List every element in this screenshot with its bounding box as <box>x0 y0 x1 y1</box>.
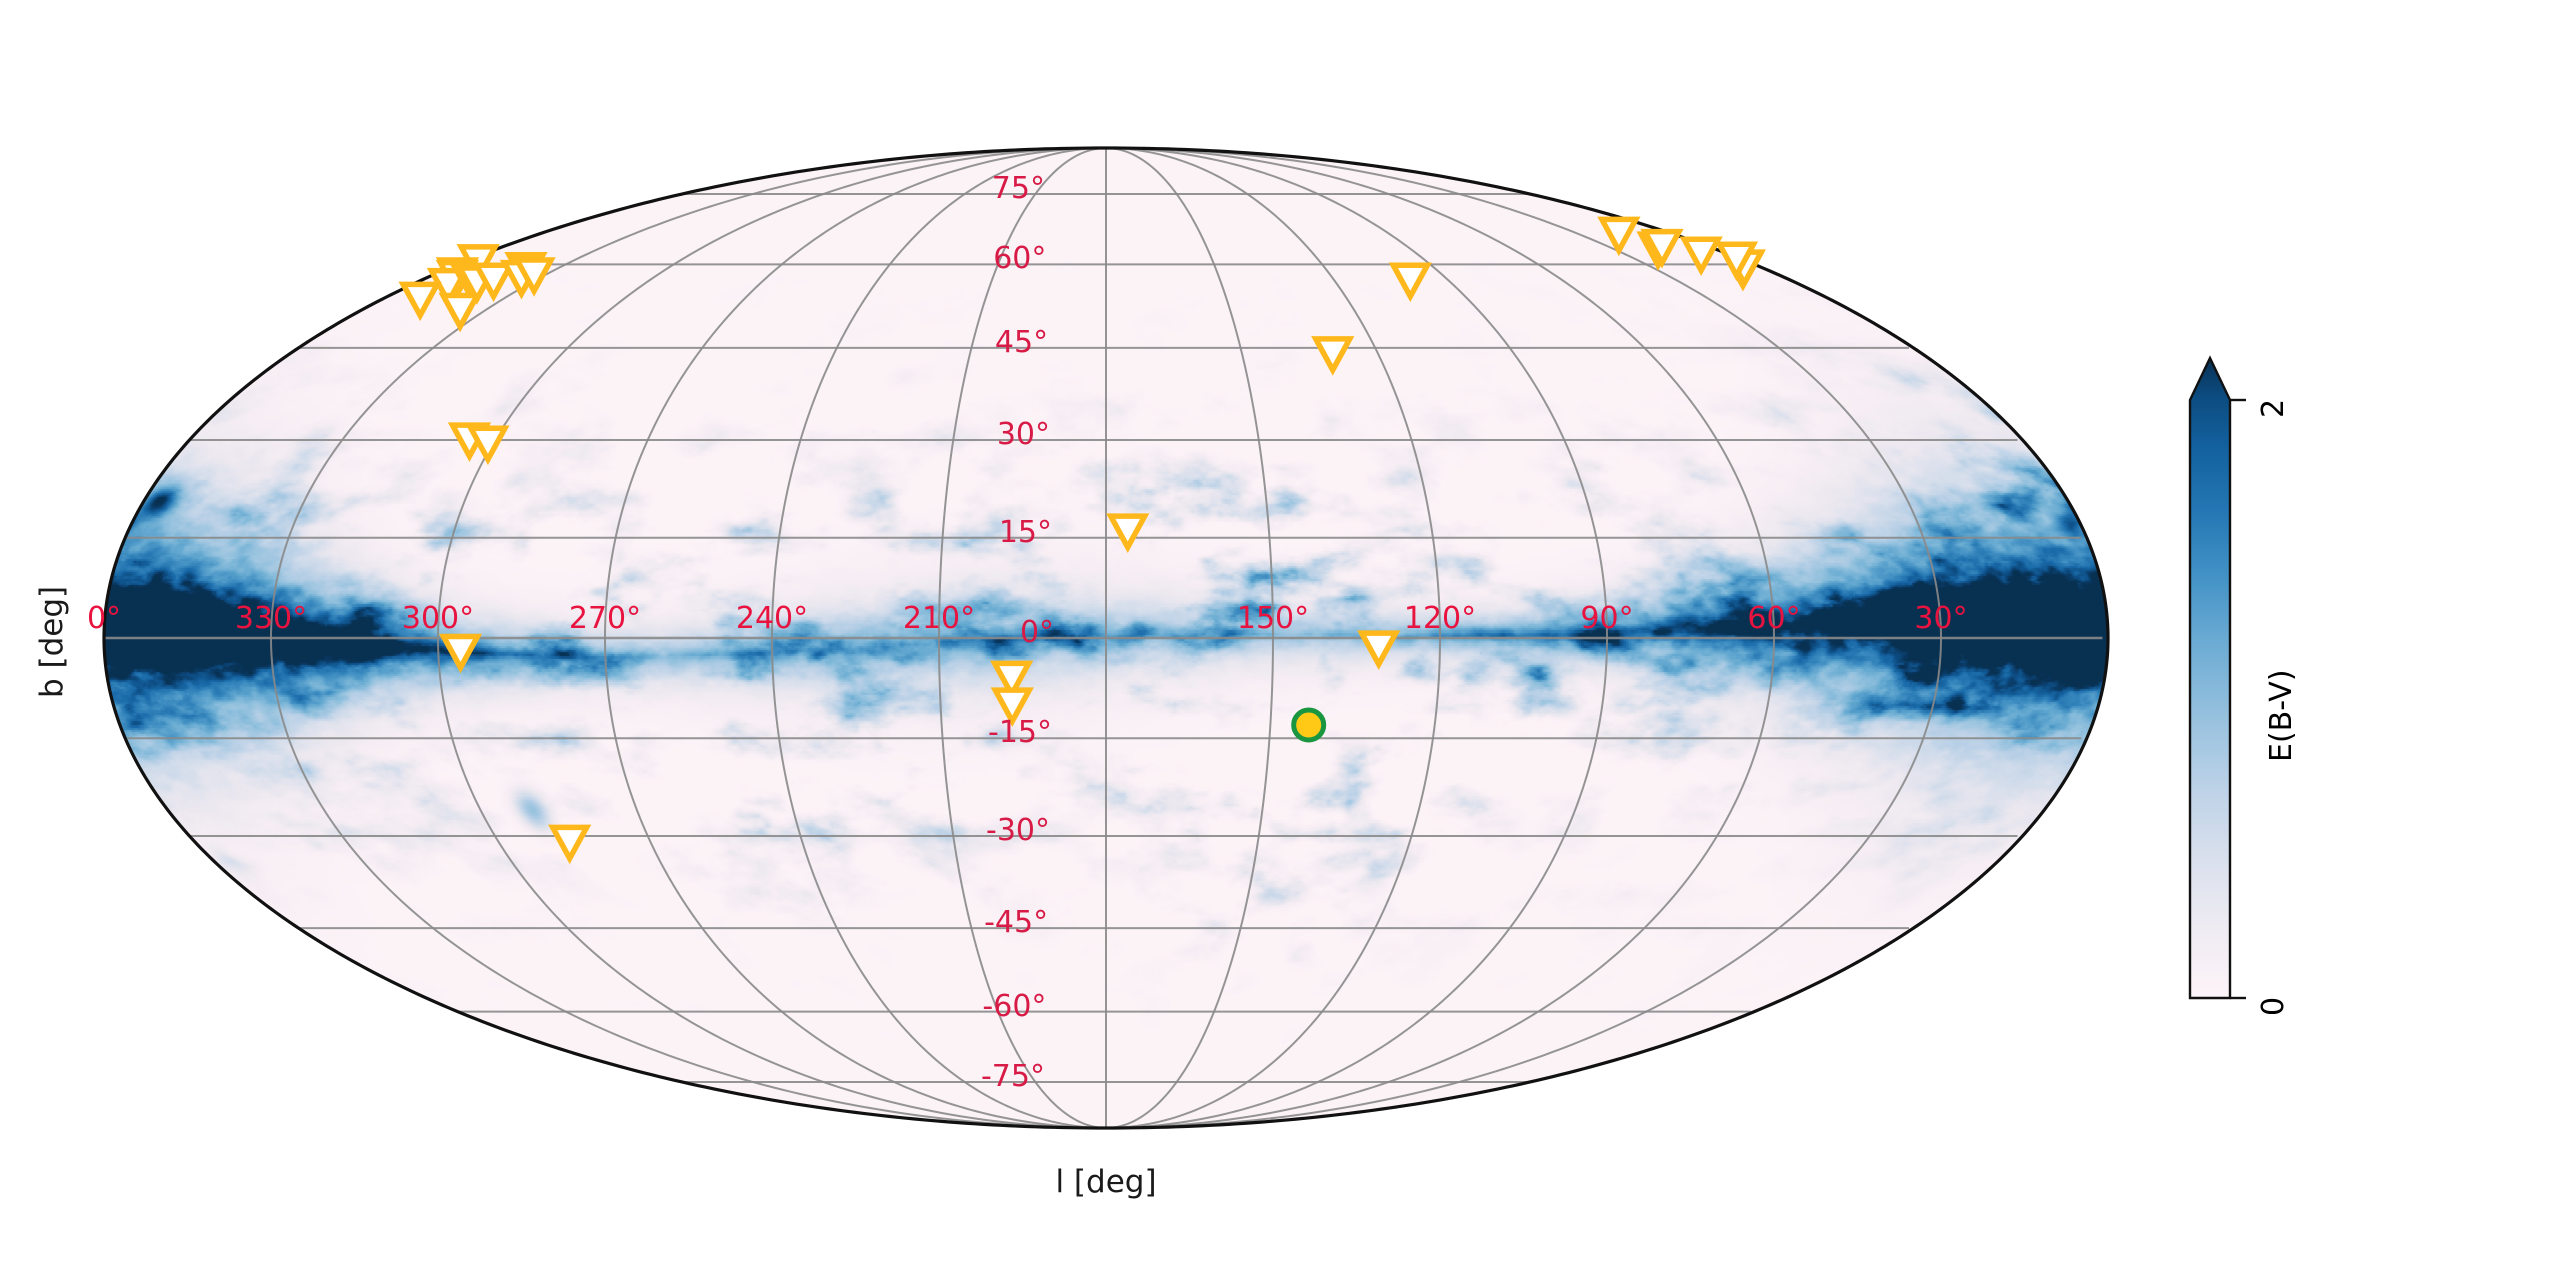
figure-root: 75°60°45°30°15°0°-15°-30°-45°-60°-75°150… <box>0 0 2560 1280</box>
colorbar-tick-min: 0 <box>2256 997 2291 1016</box>
target-marker-triangle[interactable] <box>553 827 587 858</box>
target-marker-triangle[interactable] <box>1111 516 1145 547</box>
target-marker-triangle[interactable] <box>1393 265 1427 296</box>
target-marker-triangle[interactable] <box>1684 239 1718 270</box>
graticule <box>104 148 2102 1128</box>
x-axis-title: l [deg] <box>1055 1164 1156 1200</box>
colorbar[interactable]: 2 0 E(B-V) <box>2178 280 2438 1020</box>
target-marker-triangle[interactable] <box>444 636 478 667</box>
sky-map[interactable] <box>0 0 2220 1280</box>
y-axis-title: b [deg] <box>34 586 70 698</box>
colorbar-tick-max: 2 <box>2256 399 2291 418</box>
target-markers[interactable] <box>403 219 1761 858</box>
colorbar-label: E(B-V) <box>2264 669 2299 762</box>
target-marker-triangle[interactable] <box>1316 339 1350 370</box>
target-marker-triangle[interactable] <box>995 690 1029 721</box>
target-marker-triangle[interactable] <box>403 284 437 315</box>
map-overlay <box>0 0 2220 1280</box>
target-marker-triangle[interactable] <box>1362 633 1396 664</box>
selected-target-marker[interactable] <box>1294 710 1324 740</box>
colorbar-gradient <box>2178 280 2438 1020</box>
target-marker-triangle[interactable] <box>443 295 477 326</box>
